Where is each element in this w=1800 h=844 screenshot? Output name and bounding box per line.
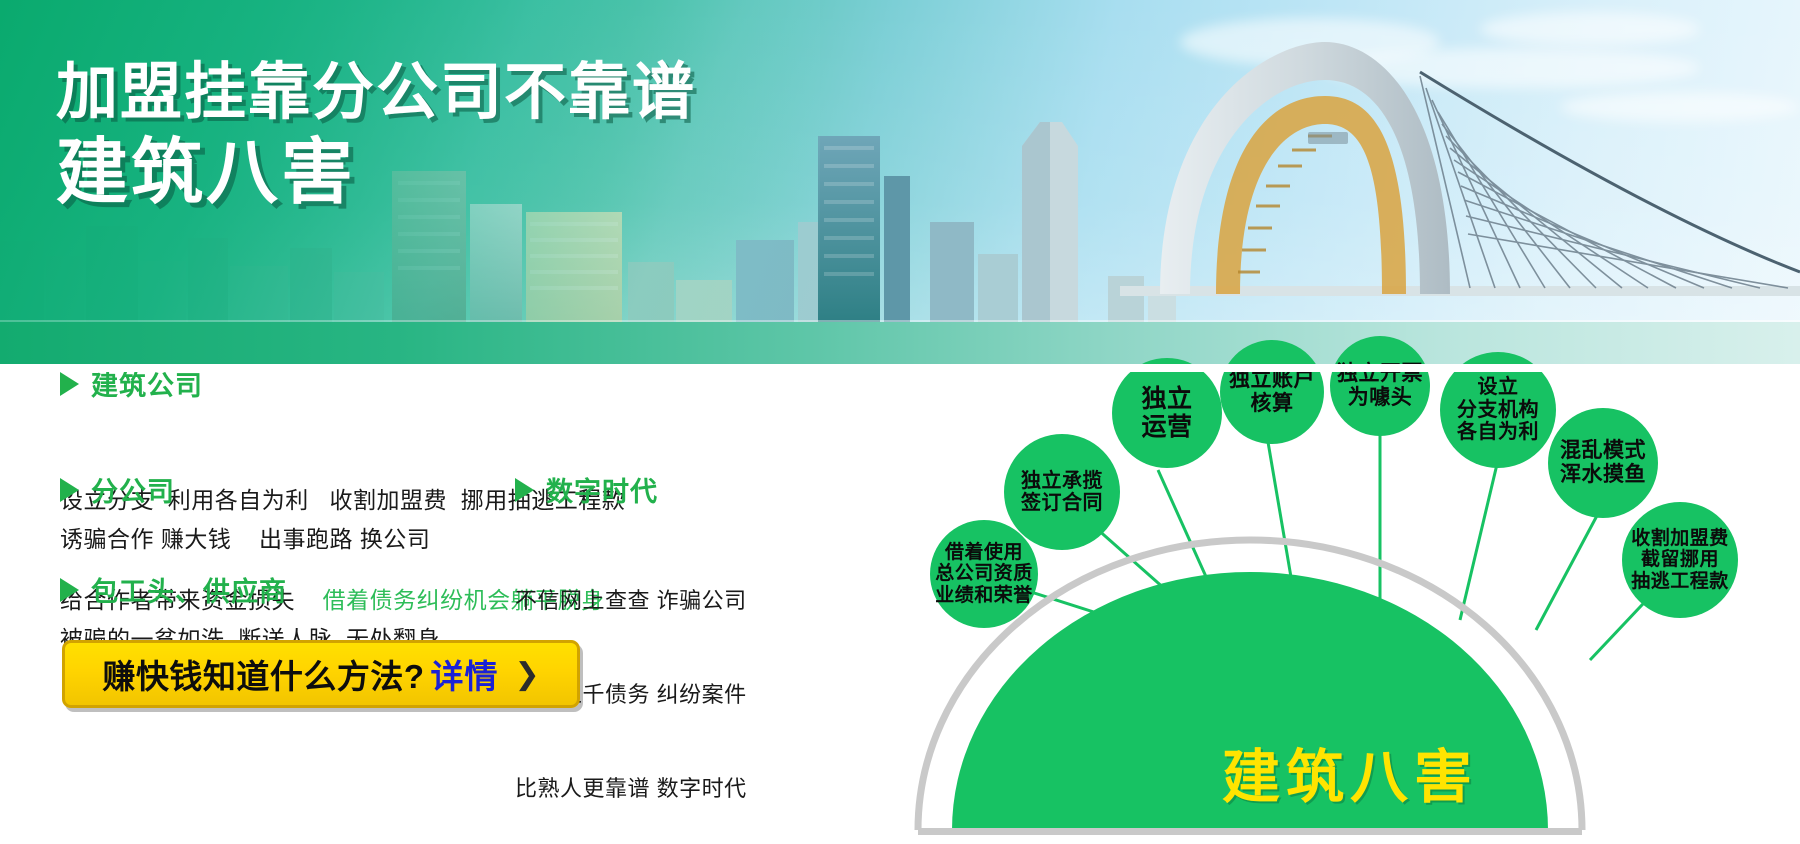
- section-header: 包工头、供应商: [60, 570, 440, 609]
- triangle-bullet-icon: [60, 578, 79, 602]
- section-body: 诱骗合作 赚大钱 出事跑路 换公司: [60, 523, 430, 556]
- hero-divider: [0, 364, 1800, 372]
- hero-title-block: 加盟挂靠分公司不靠谱 建筑八害: [56, 58, 696, 214]
- dome-center-label: 建筑八害: [900, 730, 1800, 814]
- section-body-line1: 不信网上查查 诈骗公司: [515, 585, 747, 616]
- triangle-bullet-icon: [515, 478, 534, 502]
- bubble-independent-contracting[interactable]: 独立承揽 签订合同: [1004, 434, 1120, 550]
- bubble-label: 混乱模式 浑水摸鱼: [1560, 439, 1646, 486]
- triangle-bullet-icon: [60, 372, 79, 396]
- bubble-independent-account[interactable]: 独立账户 核算: [1220, 340, 1324, 444]
- section-header: 分公司: [60, 470, 430, 509]
- bubble-label: 独立 运营: [1141, 385, 1192, 441]
- bubble-use-hq-qualification[interactable]: 借着使用 总公司资质 业绩和荣誉: [930, 520, 1038, 628]
- hero-banner: 加盟挂靠分公司不靠谱 建筑八害: [0, 0, 1800, 370]
- section-branch-company: 分公司 诱骗合作 赚大钱 出事跑路 换公司: [60, 470, 430, 556]
- triangle-bullet-icon: [60, 478, 79, 502]
- poster-root: 加盟挂靠分公司不靠谱 建筑八害 建筑公司 设立分支 利用各自为利 收割加盟费 挪…: [0, 0, 1800, 844]
- bubble-independent-invoice[interactable]: 独立开票 为噱头: [1330, 336, 1430, 436]
- section-body-line3: 比熟人更靠谱 数字时代: [515, 773, 747, 804]
- hero-title-line2: 建筑八害: [56, 133, 696, 214]
- hero-title-line1: 加盟挂靠分公司不靠谱: [56, 58, 696, 127]
- section-title: 包工头、供应商: [91, 570, 287, 609]
- bubble-independent-operation[interactable]: 独立 运营: [1112, 358, 1222, 468]
- dome-base: [918, 828, 1582, 835]
- bubble-label: 收割加盟费 截留挪用 抽逃工程款: [1631, 528, 1729, 592]
- dome-diagram: 建筑八害 借着使用 总公司资质 业绩和荣誉 独立承揽 签订合同 独立 运营 独立…: [900, 330, 1800, 844]
- bubble-harvest-franchise-fee[interactable]: 收割加盟费 截留挪用 抽逃工程款: [1622, 502, 1738, 618]
- cta-button[interactable]: 赚快钱知道什么方法? 详情 ❯: [62, 640, 580, 708]
- bubble-label: 借着使用 总公司资质 业绩和荣誉: [935, 542, 1033, 606]
- bubble-chaotic-mode[interactable]: 混乱模式 浑水摸鱼: [1548, 408, 1658, 518]
- bubble-label: 独立承揽 签订合同: [1021, 470, 1103, 515]
- cta-link-label[interactable]: 详情: [431, 650, 499, 698]
- section-title: 分公司: [91, 470, 175, 509]
- liede-bridge-image: [1120, 36, 1800, 326]
- section-title: 数字时代: [546, 470, 658, 509]
- section-header: 数字时代: [515, 470, 747, 509]
- bubble-label: 独立账户 核算: [1229, 368, 1315, 415]
- cta-main-label: 赚快钱知道什么方法?: [102, 650, 424, 698]
- chevron-right-icon: ❯: [515, 657, 540, 692]
- left-content-panel: 建筑公司 设立分支 利用各自为利 收割加盟费 挪用抽逃工程款 给合作者带来资金损…: [0, 372, 900, 844]
- bubble-label: 设立 分支机构 各自为利: [1457, 376, 1539, 443]
